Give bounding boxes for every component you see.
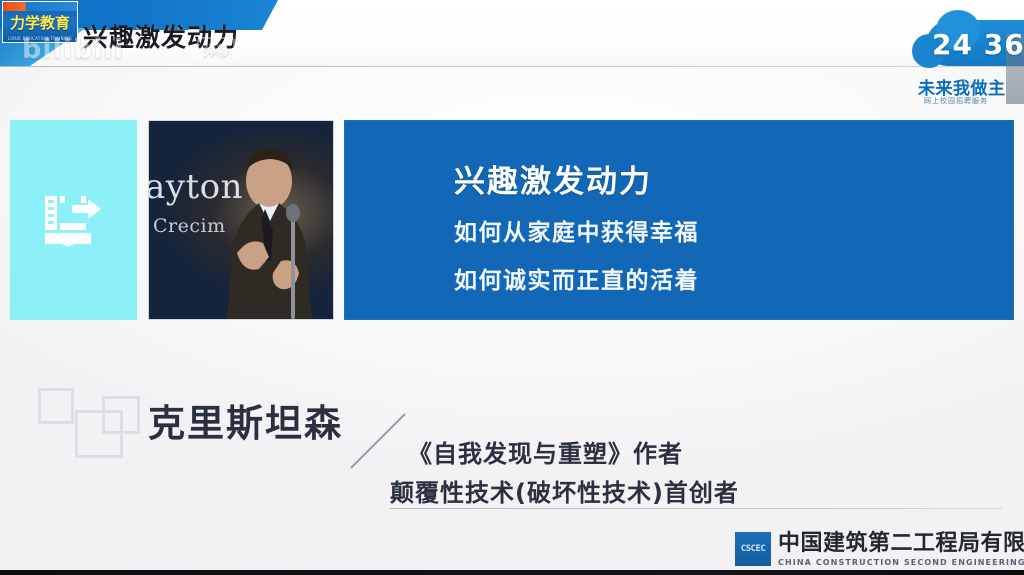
slash-divider-icon [347,410,409,472]
badge-subtitle: 网上校园招聘服务 [924,96,988,106]
company-name-en: CHINA CONSTRUCTION SECOND ENGINEERING BU… [778,557,1024,568]
speaker-figure [207,141,327,319]
badge-number: 24 365 [932,28,1024,61]
decorative-squares [38,388,148,464]
decorative-square-3 [102,396,140,434]
brand-logo-name: 力学教育 [3,11,77,33]
campus-recruitment-badge: 24 365 未来我做主 网上校园招聘服务 [906,8,1024,108]
brand-logo-subtitle: LIXUE EDUCATION TRAINING [3,36,77,41]
blue-box-title: 兴趣激发动力 [454,156,652,201]
cscec-mark-text: CSCEC [741,544,766,554]
banner-row: ayton Crecim 兴趣激发动力 如何从家庭中获得幸福 如何诚实而正直的活… [10,120,1014,320]
icon-panel [10,120,137,320]
blue-box-line-1: 如何从家庭中获得幸福 [454,213,699,247]
decorative-square-1 [38,388,74,424]
title-blue-box: 兴趣激发动力 如何从家庭中获得幸福 如何诚实而正直的活着 [344,120,1014,320]
person-name: 克里斯坦森 [148,393,343,447]
person-description-2: 颠覆性技术(破坏性技术)首创者 [390,473,739,508]
speaker-photo: ayton Crecim [148,120,334,320]
company-name-group: 中国建筑第二工程局有限 CHINA CONSTRUCTION SECOND EN… [778,531,1024,568]
video-bottom-band [0,570,1024,575]
company-name-cn: 中国建筑第二工程局有限 [778,531,1024,557]
company-logo: CSCEC 中国建筑第二工程局有限 CHINA CONSTRUCTION SEC… [735,531,1024,571]
blue-box-line-2: 如何诚实而正直的活着 [454,261,699,295]
book-export-icon [42,193,106,247]
brand-logo-topstripe [3,2,77,11]
description-underline [390,508,1002,509]
brand-logo[interactable]: 力学教育 LIXUE EDUCATION TRAINING [2,1,78,43]
cscec-mark-icon: CSCEC [735,532,771,566]
header-divider [0,66,1024,67]
slide-screenshot: 力学教育 LIXUE EDUCATION TRAINING 兴趣激发动力 bil… [0,0,1024,575]
page-title: 兴趣激发动力 [83,18,239,54]
brand-logo-dot-icon [7,3,14,10]
person-description-1: 《自我发现与重塑》作者 [408,434,683,469]
slide-header: 力学教育 LIXUE EDUCATION TRAINING 兴趣激发动力 bil… [0,0,1024,67]
